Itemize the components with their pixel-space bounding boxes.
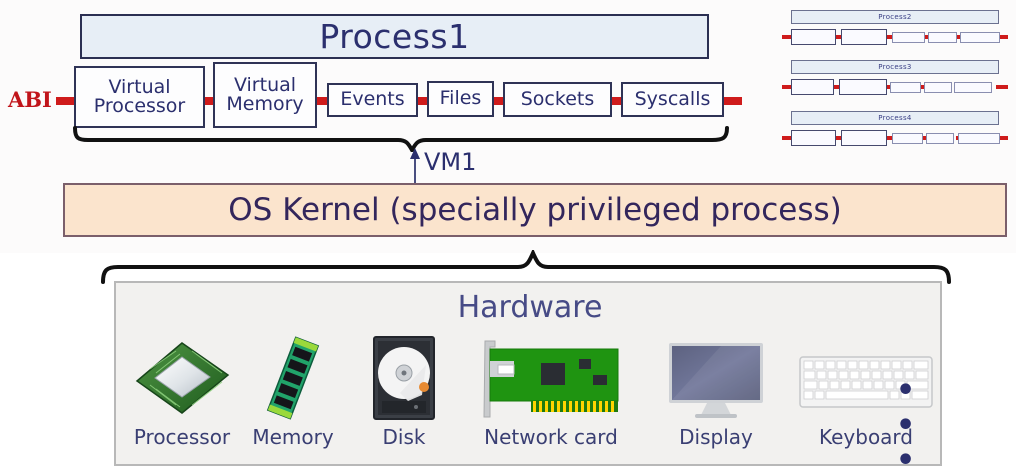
process1-title-bar: Process1: [80, 14, 709, 59]
os-kernel-bar: OS Kernel (specially privileged process): [63, 183, 1007, 237]
mini-process-row: [782, 28, 1008, 46]
mini-box: [841, 29, 887, 45]
mini-process-row: [782, 78, 1008, 96]
vm1-arrow-icon: [404, 146, 426, 188]
mini-box: [892, 133, 923, 144]
abi-box-virtual-processor[interactable]: Virtual Processor: [74, 66, 205, 128]
hardware-item-processor[interactable]: Processor: [122, 333, 242, 449]
abi-box-label: Files: [440, 89, 482, 108]
mini-box: [924, 82, 952, 93]
hardware-item-network-card[interactable]: Network card: [461, 333, 641, 449]
mini-box: [890, 82, 921, 93]
hardware-title: Hardware: [116, 290, 944, 325]
network-card-icon: [461, 333, 641, 421]
hardware-item-display[interactable]: Display: [636, 333, 796, 449]
mini-box: [791, 130, 836, 146]
mini-box: [791, 29, 836, 45]
abi-box-label-line2: Memory: [226, 95, 303, 114]
mini-box: [791, 79, 834, 95]
diagram-canvas: Process1 ABI Virtual Processor Virtual M…: [0, 0, 1016, 473]
mini-box: [928, 32, 957, 43]
os-kernel-label: OS Kernel (specially privileged process): [228, 192, 841, 228]
abi-box-label-line2: Processor: [94, 97, 186, 116]
abi-box-label: Syscalls: [635, 90, 711, 109]
ram-module-icon: [233, 333, 353, 421]
mini-box: [839, 79, 887, 95]
vm1-grouping-brace: [72, 126, 732, 152]
hardware-item-disk[interactable]: Disk: [344, 333, 464, 449]
hardware-panel: Hardware: [114, 281, 942, 466]
abi-box-label: Sockets: [521, 90, 595, 109]
cpu-chip-icon: [122, 333, 242, 421]
monitor-icon: [636, 333, 796, 421]
mini-process-title: Process2: [791, 10, 999, 24]
mini-process-row: [782, 129, 1008, 147]
abi-box-virtual-memory[interactable]: Virtual Memory: [213, 62, 317, 128]
mini-process-block[interactable]: Process2: [782, 10, 1008, 46]
mini-process-title: Process3: [791, 60, 999, 74]
hardware-item-label: Network card: [461, 425, 641, 449]
abi-box-sockets[interactable]: Sockets: [503, 82, 612, 117]
abi-label: ABI: [8, 87, 58, 112]
abi-box-label: Events: [340, 90, 404, 109]
vm1-label: VM1: [424, 148, 476, 176]
hardware-item-label: Memory: [233, 425, 353, 449]
abi-box-files[interactable]: Files: [427, 81, 494, 117]
hardware-item-memory[interactable]: Memory: [233, 333, 353, 449]
mini-box: [892, 32, 925, 43]
hard-disk-icon: [344, 333, 464, 421]
mini-process-block[interactable]: Process4: [782, 111, 1008, 147]
hardware-grouping-brace: [100, 250, 952, 284]
mini-process-block[interactable]: Process3: [782, 60, 1008, 96]
hardware-item-label: Disk: [344, 425, 464, 449]
mini-box: [926, 133, 954, 144]
mini-box: [841, 130, 887, 146]
abi-box-events[interactable]: Events: [327, 83, 418, 117]
abi-box-syscalls[interactable]: Syscalls: [621, 82, 724, 117]
hardware-more-ellipsis: • • •: [896, 373, 940, 473]
mini-process-title: Process4: [791, 111, 999, 125]
hardware-item-label: Display: [636, 425, 796, 449]
hardware-item-label: Processor: [122, 425, 242, 449]
